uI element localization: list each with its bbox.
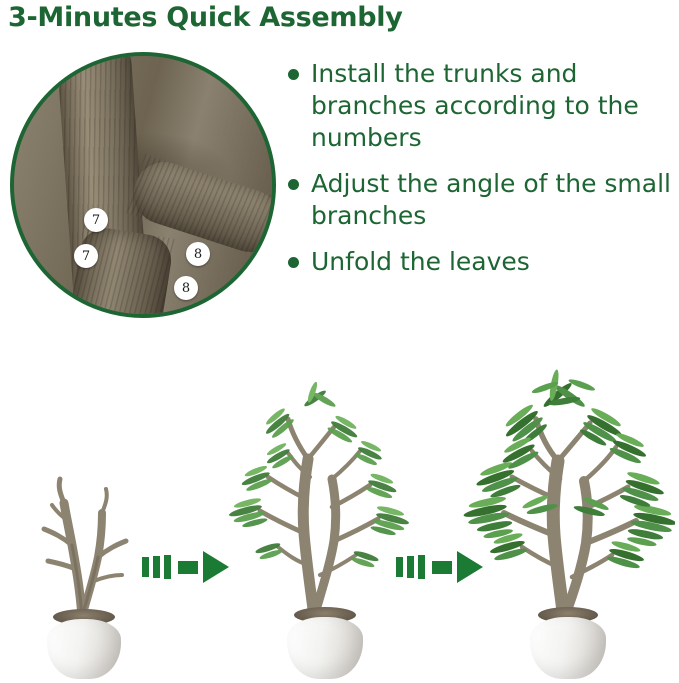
stage-branches-attached [210,349,440,679]
list-item-label: Adjust the angle of the small branches [311,168,674,232]
arrow-shaft-icon [432,561,452,574]
trunk-closeup-photo: 7 7 8 8 [10,52,276,318]
number-badge: 8 [174,276,198,300]
list-item: Unfold the leaves [288,246,674,278]
trunk-lower-bark [65,225,175,318]
number-badge: 7 [84,208,108,232]
bullet-dot-icon [288,179,299,190]
number-badge: 8 [186,242,210,266]
bullet-dot-icon [288,69,299,80]
page-title: 3-Minutes Quick Assembly [8,2,403,33]
plant-pot [47,619,121,679]
plant-pot [530,617,606,679]
list-item-label: Unfold the leaves [311,246,530,278]
bark-texture-lines [65,225,175,318]
arrow-shaft-icon [178,561,198,574]
list-item-label: Install the trunks and branches accordin… [311,58,674,154]
arrow-dash-icon [407,556,414,578]
plant-pot [287,617,363,679]
leaf-cluster [226,381,411,570]
list-item: Adjust the angle of the small branches [288,168,674,232]
instruction-list: Install the trunks and branches accordin… [288,58,674,292]
bullet-dot-icon [288,257,299,268]
arrow-dash-icon [164,555,171,579]
number-badge: 7 [74,244,98,268]
stage-bare-trunk [14,449,154,679]
stage-leaves-unfolded [460,329,675,679]
leaf-canopy [461,369,675,571]
arrow-dash-icon [418,555,425,579]
arrow-dash-icon [396,557,403,577]
photo-background [14,56,272,314]
arrow-dash-icon [153,556,160,578]
list-item: Install the trunks and branches accordin… [288,58,674,154]
arrow-dash-icon [142,557,149,577]
